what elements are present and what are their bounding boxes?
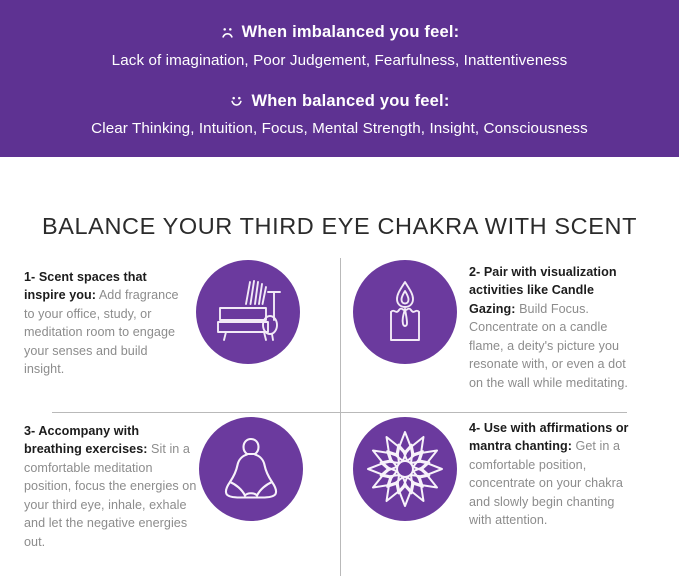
tip-4-text: 4- Use with affirmations or mantra chant… <box>457 413 629 530</box>
imbalanced-feelings-list: Lack of imagination, Poor Judgement, Fea… <box>112 51 568 70</box>
imbalanced-heading-row: When imbalanced you feel: <box>112 23 568 43</box>
balanced-block: When balanced you feel: Clear Thinking, … <box>91 92 588 139</box>
meditating-figure-icon <box>212 430 290 508</box>
tip-card-2: 2- Pair with visualization activities li… <box>341 258 679 412</box>
tip-2-number: 2- <box>469 265 484 279</box>
sofa-reed-diffuser-icon <box>210 274 286 350</box>
tip-3-bold: Accompany with breathing exercises: <box>24 424 148 457</box>
tip-1-number: 1- <box>24 270 39 284</box>
candle-icon <box>369 276 441 348</box>
frowning-face-icon <box>220 25 235 40</box>
page-title: BALANCE YOUR THIRD EYE CHAKRA WITH SCENT <box>0 214 679 240</box>
tip-3-number: 3- <box>24 424 38 438</box>
lotus-mandala-icon <box>363 427 447 511</box>
tip-card-1: 1- Scent spaces that inspire you: Add fr… <box>0 258 340 412</box>
balanced-heading-text: When balanced you feel: <box>251 92 449 112</box>
chakra-feelings-header: When imbalanced you feel: Lack of imagin… <box>0 0 679 157</box>
tip-3-icon-circle <box>199 417 303 521</box>
tip-4-icon-circle <box>353 417 457 521</box>
tip-4-number: 4- <box>469 421 484 435</box>
balanced-heading-row: When balanced you feel: <box>91 92 588 112</box>
balanced-feelings-list: Clear Thinking, Intuition, Focus, Mental… <box>91 119 588 138</box>
imbalanced-heading-text: When imbalanced you feel: <box>242 23 460 43</box>
tip-card-4: 4- Use with affirmations or mantra chant… <box>341 413 679 576</box>
tips-grid: 1- Scent spaces that inspire you: Add fr… <box>0 258 679 576</box>
tip-3-body: Sit in a comfortable meditation position… <box>24 442 196 549</box>
tip-1-icon-circle <box>196 260 300 364</box>
tip-3-text: 3- Accompany with breathing exercises: S… <box>0 413 199 552</box>
tip-2-text: 2- Pair with visualization activities li… <box>457 258 634 393</box>
imbalanced-block: When imbalanced you feel: Lack of imagin… <box>112 23 568 70</box>
tip-1-text: 1- Scent spaces that inspire you: Add fr… <box>0 258 184 379</box>
smiling-face-icon <box>229 94 244 109</box>
tip-card-3: 3- Accompany with breathing exercises: S… <box>0 413 340 576</box>
tip-2-icon-circle <box>353 260 457 364</box>
